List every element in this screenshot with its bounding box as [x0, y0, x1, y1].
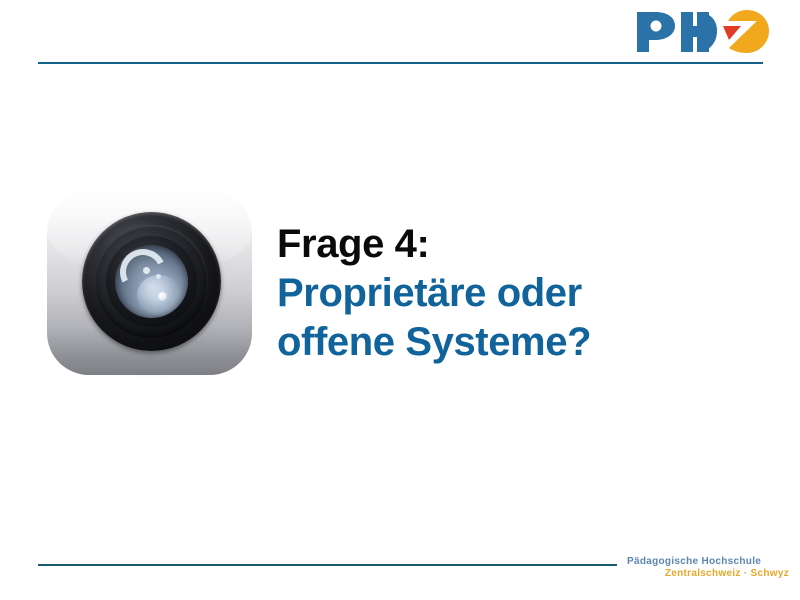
title-line-3: offene Systeme?	[277, 322, 747, 362]
icon-rounded-square	[47, 190, 252, 375]
slide-title-block: Frage 4: Proprietäre oder offene Systeme…	[277, 224, 747, 371]
lens-flare-dot-large	[143, 267, 150, 274]
lens-mid-ring	[95, 225, 208, 338]
camera-app-icon	[47, 190, 252, 375]
lens-outer-barrel	[82, 212, 221, 351]
footer-line-primary: Pädagogische Hochschule	[627, 556, 797, 568]
footer-line-secondary: Zentralschweiz · Schwyz	[627, 568, 797, 580]
phz-logo	[633, 6, 773, 56]
lens-inner-barrel	[106, 236, 197, 327]
title-line-1: Frage 4:	[277, 224, 747, 264]
footer-divider	[38, 564, 617, 566]
header-divider	[38, 62, 763, 64]
lens-flare-dot-small	[156, 274, 161, 279]
lens-glass-element	[115, 245, 188, 318]
title-line-2: Proprietäre oder	[277, 273, 747, 313]
slide-canvas: Frage 4: Proprietäre oder offene Systeme…	[0, 0, 800, 600]
lens-specular-highlight	[158, 292, 167, 301]
footer-institution: Pädagogische Hochschule Zentralschweiz ·…	[627, 556, 797, 579]
